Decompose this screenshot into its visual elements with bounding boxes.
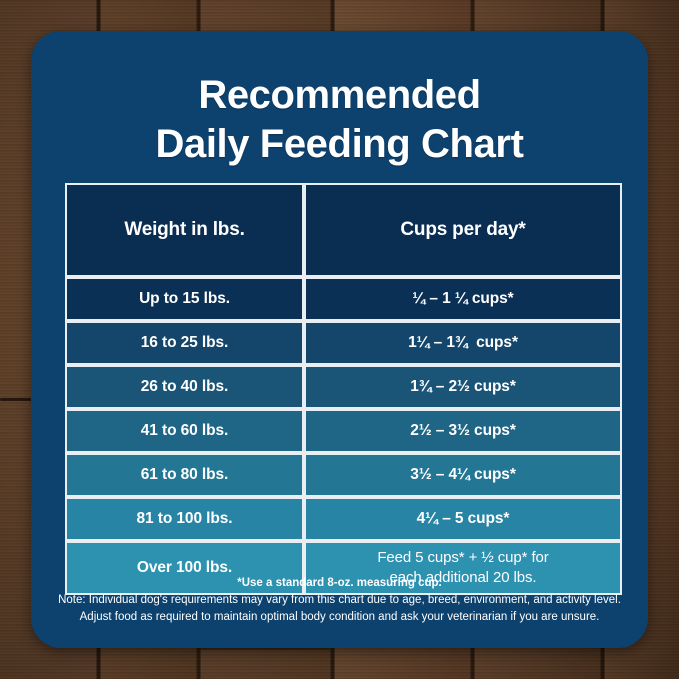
- cell-weight: 61 to 80 lbs.: [65, 453, 304, 497]
- table-row: 81 to 100 lbs. 4¼ – 5 cups*: [65, 497, 622, 541]
- title-line-1: Recommended: [31, 71, 648, 120]
- cell-weight: 26 to 40 lbs.: [65, 365, 304, 409]
- column-header-cups: Cups per day*: [304, 183, 622, 277]
- footnote-line-2: Note: Individual dog's requirements may …: [31, 592, 648, 609]
- cell-cups: ¼ – 1 ¼ cups*: [304, 277, 622, 321]
- cell-cups: 1¾ – 2½ cups*: [304, 365, 622, 409]
- column-header-weight: Weight in lbs.: [65, 183, 304, 277]
- cell-cups: 3½ – 4¼ cups*: [304, 453, 622, 497]
- cell-weight: Up to 15 lbs.: [65, 277, 304, 321]
- table-row: Up to 15 lbs. ¼ – 1 ¼ cups*: [65, 277, 622, 321]
- cell-weight: 16 to 25 lbs.: [65, 321, 304, 365]
- cell-weight: 81 to 100 lbs.: [65, 497, 304, 541]
- cell-cups: 1¼ – 1¾ cups*: [304, 321, 622, 365]
- table-row: 16 to 25 lbs. 1¼ – 1¾ cups*: [65, 321, 622, 365]
- table-row: 41 to 60 lbs. 2½ – 3½ cups*: [65, 409, 622, 453]
- title-line-2: Daily Feeding Chart: [31, 120, 648, 169]
- table-header-row: Weight in lbs. Cups per day*: [65, 183, 622, 277]
- cell-weight: 41 to 60 lbs.: [65, 409, 304, 453]
- feeding-chart-card: Recommended Daily Feeding Chart Weight i…: [31, 31, 648, 648]
- footnote-line-1: *Use a standard 8-oz. measuring cup.: [31, 575, 648, 592]
- feeding-table: Weight in lbs. Cups per day* Up to 15 lb…: [65, 183, 622, 595]
- page-title: Recommended Daily Feeding Chart: [31, 31, 648, 169]
- cell-cups: 4¼ – 5 cups*: [304, 497, 622, 541]
- footnote-line-3: Adjust food as required to maintain opti…: [31, 609, 648, 626]
- footnotes: *Use a standard 8-oz. measuring cup. Not…: [31, 575, 648, 626]
- table-row: 61 to 80 lbs. 3½ – 4¼ cups*: [65, 453, 622, 497]
- table-row: 26 to 40 lbs. 1¾ – 2½ cups*: [65, 365, 622, 409]
- cell-cups: 2½ – 3½ cups*: [304, 409, 622, 453]
